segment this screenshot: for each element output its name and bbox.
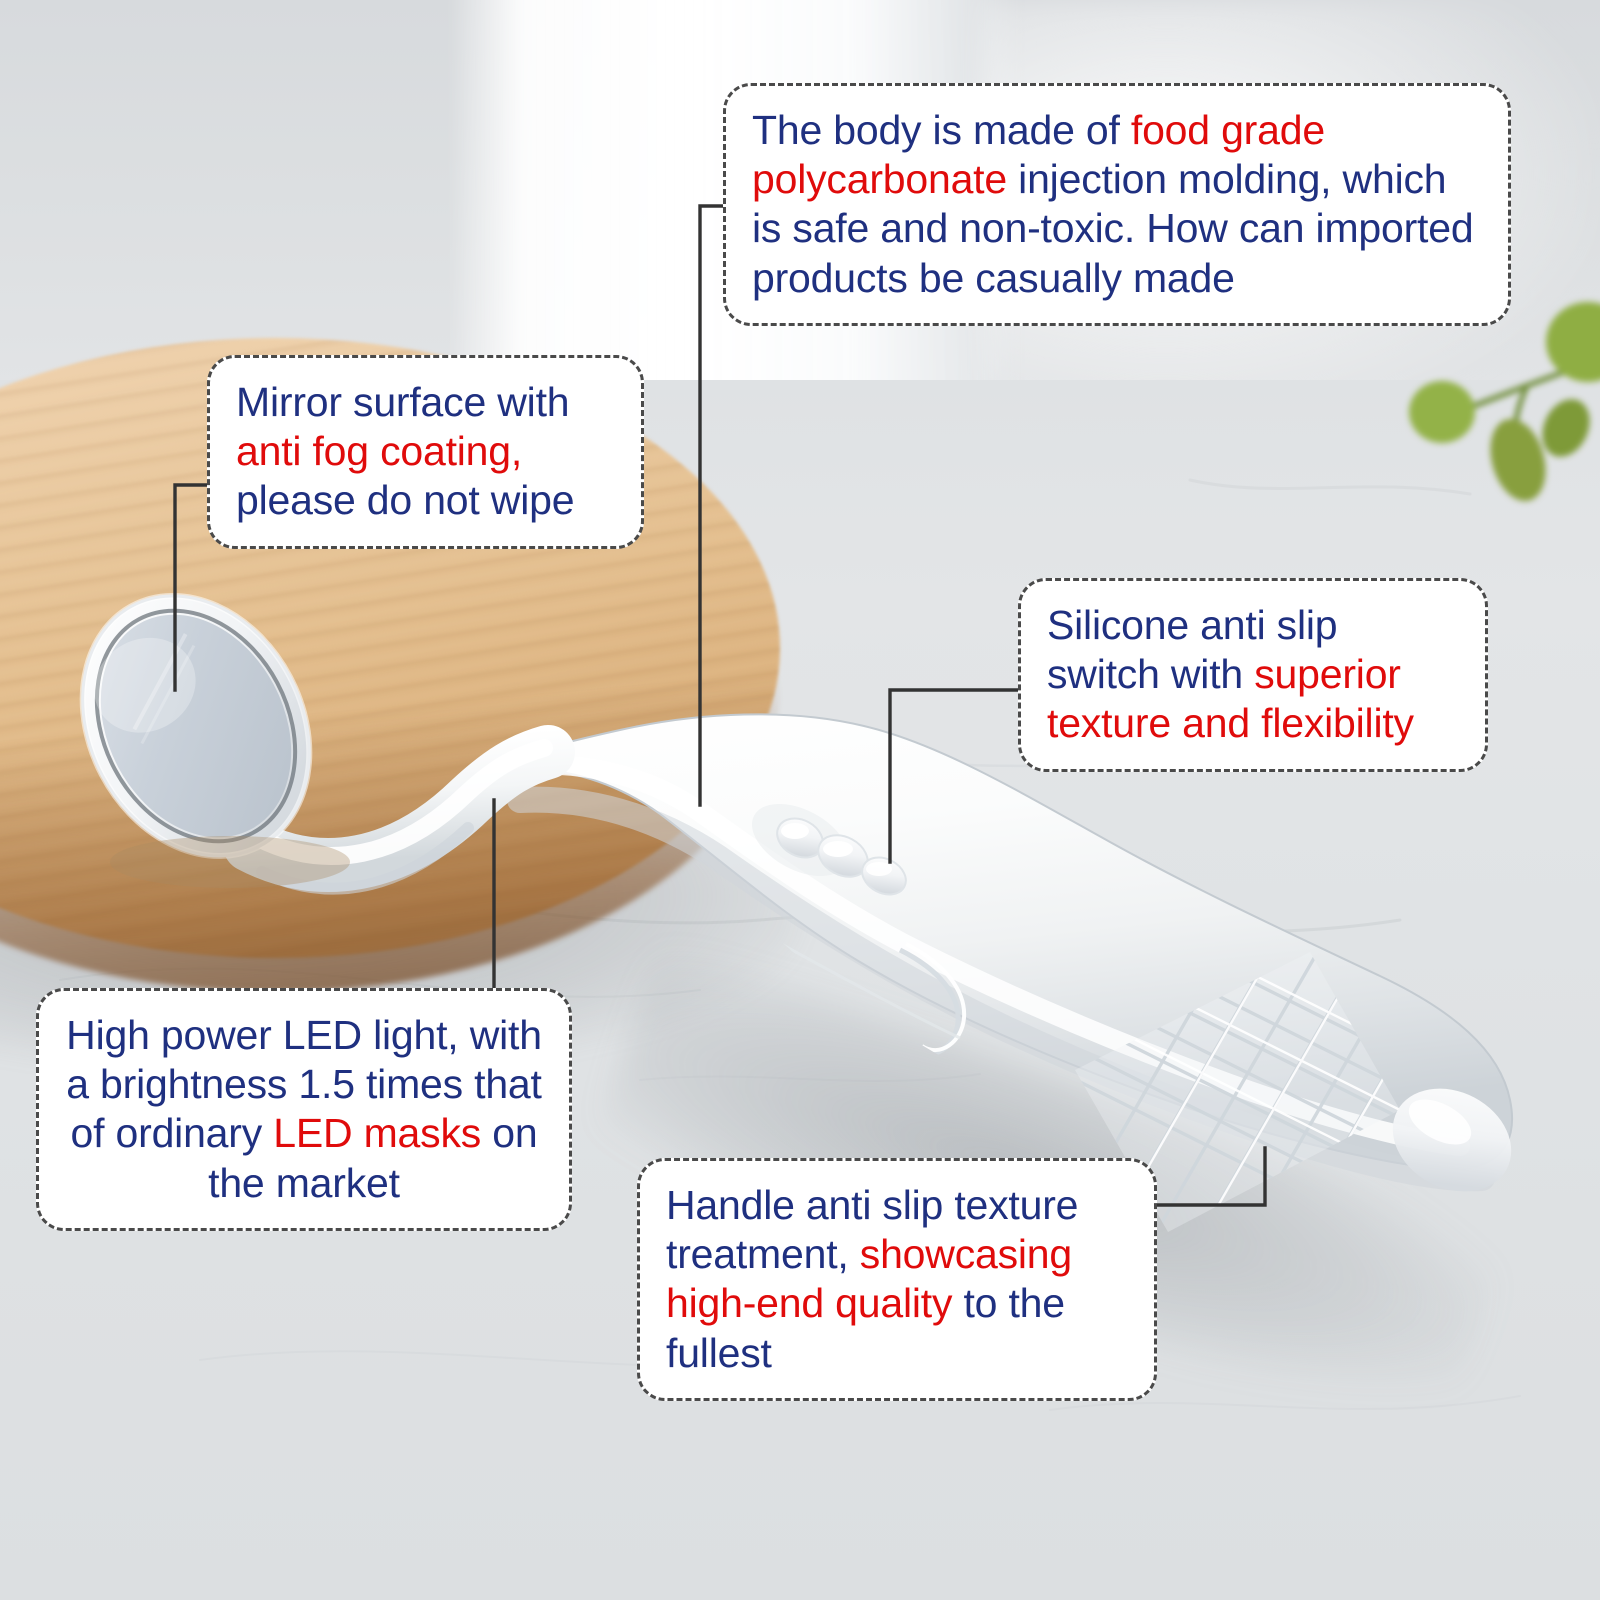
mirror-head-shadow — [110, 836, 350, 888]
callout-text-run-2: please do not wipe — [236, 477, 574, 523]
silicone-switch-callout: Silicone anti slip switch with superior … — [1018, 578, 1488, 772]
body-material-callout: The body is made of food grade polycarbo… — [723, 83, 1511, 326]
handle-texture-callout: Handle anti slip texture treatment, show… — [637, 1158, 1157, 1401]
mirror-coating-callout: Mirror surface with anti fog coating, pl… — [207, 355, 644, 549]
infographic-canvas: The body is made of food grade polycarbo… — [0, 0, 1600, 1600]
callout-text-run-0: Mirror surface with — [236, 379, 569, 425]
callout-text-run-1: anti fog coating, — [236, 428, 522, 474]
callout-text-run-0: The body is made of — [752, 107, 1131, 153]
led-brightness-callout: High power LED light, with a brightness … — [36, 988, 572, 1231]
callout-text-run-1: LED masks — [273, 1110, 481, 1156]
